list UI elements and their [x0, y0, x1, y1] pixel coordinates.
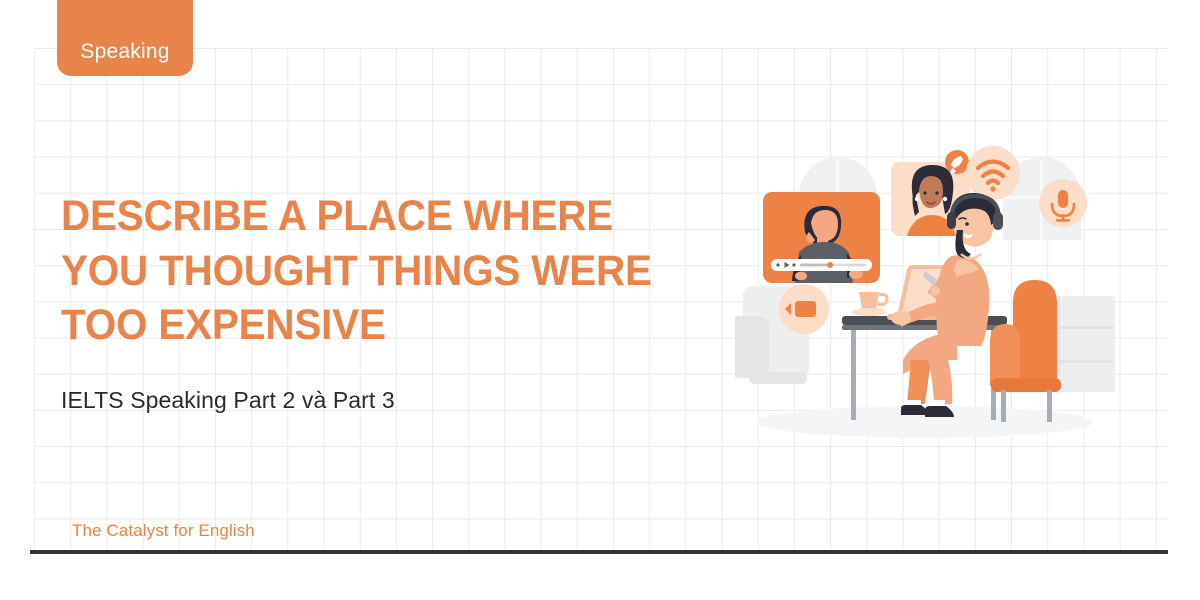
footer-brand-label: The Catalyst for English	[72, 521, 255, 541]
video-playback-bar[interactable]	[771, 259, 872, 271]
category-badge-speaking[interactable]: Speaking	[57, 0, 193, 76]
page-title: DESCRIBE A PLACE WHERE YOU THOUGHT THING…	[61, 189, 663, 353]
cabinet	[1053, 296, 1115, 392]
footer-divider-rule	[30, 550, 1168, 554]
rocket-badge-icon	[945, 150, 969, 174]
page-subtitle: IELTS Speaking Part 2 và Part 3	[61, 353, 701, 415]
video-camera-icon	[779, 284, 829, 334]
coffee-cup	[852, 292, 887, 316]
slide-canvas: Speaking DESCRIBE A PLACE WHERE YOU THOU…	[0, 0, 1200, 600]
microphone-icon	[1039, 179, 1087, 227]
wifi-icon	[966, 146, 1020, 200]
category-badge-label: Speaking	[80, 41, 169, 62]
armchair	[990, 280, 1061, 422]
title-block: DESCRIBE A PLACE WHERE YOU THOUGHT THING…	[61, 189, 701, 414]
online-video-conference-illustration	[735, 120, 1115, 460]
video-player-tile[interactable]	[763, 192, 880, 283]
